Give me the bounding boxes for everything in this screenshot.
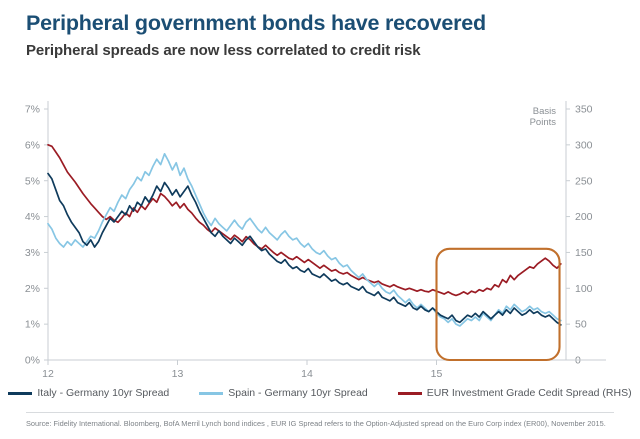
basis-points-caption-line2: Points bbox=[530, 117, 557, 128]
y2-tick-label: 50 bbox=[575, 319, 587, 331]
legend-label: Spain - Germany 10yr Spread bbox=[228, 387, 367, 399]
x-tick-label: 13 bbox=[172, 368, 184, 380]
y-tick-label: 3% bbox=[25, 247, 40, 259]
y-tick-label: 2% bbox=[25, 283, 40, 295]
y-tick-label: 6% bbox=[25, 139, 40, 151]
chart-container: 0%1%2%3%4%5%6%7% 050100150200250300350 1… bbox=[0, 92, 640, 382]
legend-item[interactable]: EUR Investment Grade Cedit Spread (RHS) bbox=[398, 387, 632, 399]
x-tick-label: 12 bbox=[42, 368, 54, 380]
legend-item[interactable]: Italy - Germany 10yr Spread bbox=[8, 387, 169, 399]
y-tick-label: 7% bbox=[25, 104, 40, 116]
source-note: Source: Fidelity International. Bloomber… bbox=[26, 419, 626, 429]
y2-tick-label: 100 bbox=[575, 283, 593, 295]
y2-tick-label: 0 bbox=[575, 355, 581, 367]
chart-legend: Italy - Germany 10yr SpreadSpain - Germa… bbox=[0, 383, 640, 403]
basis-points-caption-line1: Basis bbox=[533, 106, 556, 117]
legend-label: EUR Investment Grade Cedit Spread (RHS) bbox=[427, 387, 632, 399]
y2-tick-label: 300 bbox=[575, 139, 593, 151]
chart-page: Peripheral government bonds have recover… bbox=[0, 0, 640, 439]
y2-tick-label: 150 bbox=[575, 247, 593, 259]
legend-label: Italy - Germany 10yr Spread bbox=[37, 387, 169, 399]
legend-swatch-icon bbox=[199, 392, 223, 395]
x-tick-label: 15 bbox=[431, 368, 443, 380]
x-axis: 12131415 bbox=[42, 360, 606, 380]
legend-item[interactable]: Spain - Germany 10yr Spread bbox=[199, 387, 367, 399]
line-chart: 0%1%2%3%4%5%6%7% 050100150200250300350 1… bbox=[0, 92, 640, 382]
y2-tick-label: 250 bbox=[575, 175, 593, 187]
page-subtitle: Peripheral spreads are now less correlat… bbox=[26, 42, 420, 59]
series-line bbox=[48, 154, 561, 326]
y2-tick-label: 350 bbox=[575, 104, 593, 116]
annotation-group bbox=[437, 249, 560, 360]
y-tick-label: 4% bbox=[25, 211, 40, 223]
page-title: Peripheral government bonds have recover… bbox=[26, 11, 486, 36]
y-tick-label: 5% bbox=[25, 175, 40, 187]
y-tick-label: 1% bbox=[25, 319, 40, 331]
highlight-box bbox=[437, 249, 560, 360]
footer-divider bbox=[26, 412, 614, 413]
y-axis-left: 0%1%2%3%4%5%6%7% bbox=[25, 101, 48, 367]
y-tick-label: 0% bbox=[25, 355, 40, 367]
x-tick-label: 14 bbox=[301, 368, 313, 380]
y-axis-right: 050100150200250300350 bbox=[566, 101, 593, 367]
y2-tick-label: 200 bbox=[575, 211, 593, 223]
series-group bbox=[48, 145, 561, 326]
legend-swatch-icon bbox=[8, 392, 32, 395]
legend-swatch-icon bbox=[398, 392, 422, 395]
